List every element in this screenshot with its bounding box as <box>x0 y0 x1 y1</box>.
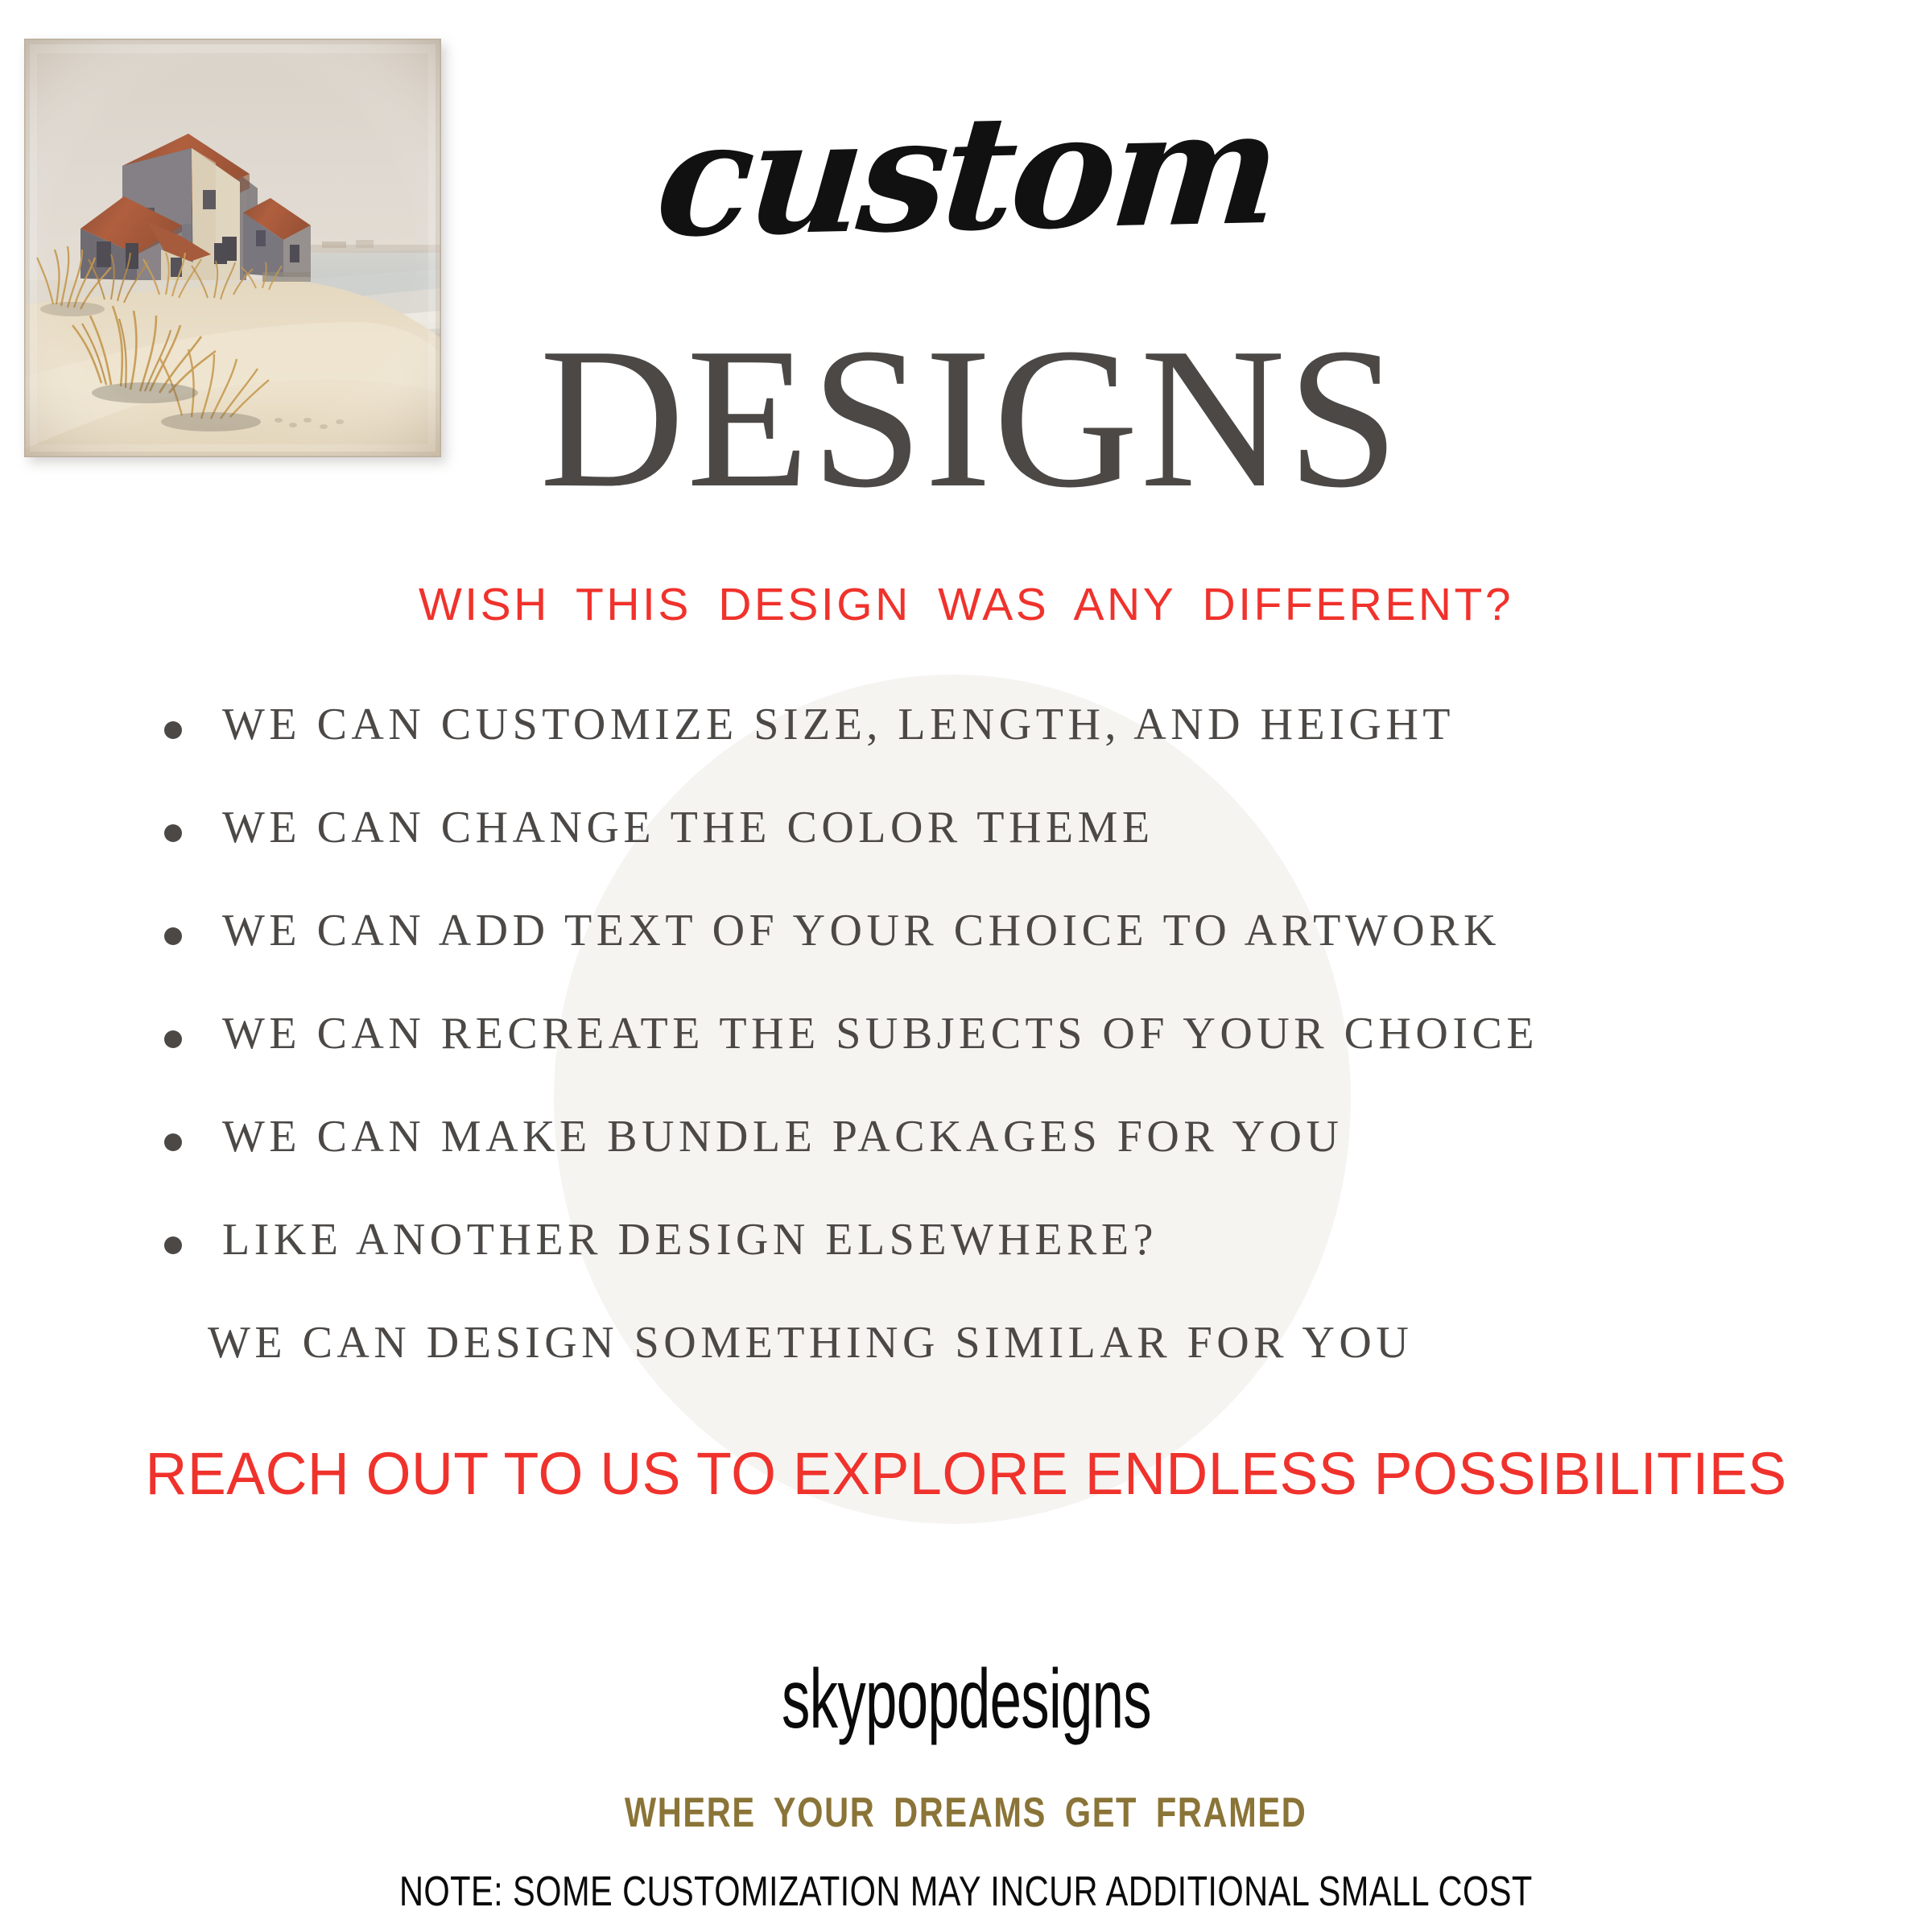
artwork-thumbnail <box>24 39 441 457</box>
bullet-dot-icon <box>164 824 182 842</box>
list-item: WE CAN CUSTOMIZE SIZE, LENGTH, AND HEIGH… <box>0 702 1932 805</box>
bullet-dot-icon <box>164 1133 182 1151</box>
brand-tagline-text: WHERE YOUR DREAMS GET FRAMED <box>625 1789 1307 1837</box>
list-item-continuation-label: WE CAN DESIGN SOMETHING SIMILAR FOR YOU <box>208 1318 1413 1368</box>
page-title-text: DESIGNS <box>539 318 1401 519</box>
call-to-action: REACH OUT TO US TO EXPLORE ENDLESS POSSI… <box>0 1439 1932 1508</box>
call-to-action-text: REACH OUT TO US TO EXPLORE ENDLESS POSSI… <box>145 1439 1786 1508</box>
bullet-dot-icon <box>164 927 182 945</box>
list-item-label: WE CAN RECREATE THE SUBJECTS OF YOUR CHO… <box>222 1011 1538 1056</box>
list-item: LIKE ANOTHER DESIGN ELSEWHERE? <box>0 1217 1932 1320</box>
list-item: WE CAN RECREATE THE SUBJECTS OF YOUR CHO… <box>0 1011 1932 1114</box>
list-item-label: WE CAN ADD TEXT OF YOUR CHOICE TO ARTWOR… <box>222 908 1501 953</box>
list-item-label: WE CAN CHANGE THE COLOR THEME <box>222 805 1154 850</box>
list-item-continuation: WE CAN DESIGN SOMETHING SIMILAR FOR YOU <box>0 1320 1932 1409</box>
bullet-dot-icon <box>164 721 182 739</box>
feature-list: WE CAN CUSTOMIZE SIZE, LENGTH, AND HEIGH… <box>0 702 1932 1409</box>
custom-designs-poster: custom DESIGNS WISH THIS DESIGN WAS ANY … <box>0 0 1932 1932</box>
list-item: WE CAN ADD TEXT OF YOUR CHOICE TO ARTWOR… <box>0 908 1932 1011</box>
subtitle-text: WISH THIS DESIGN WAS ANY DIFFERENT? <box>419 579 1513 630</box>
subtitle: WISH THIS DESIGN WAS ANY DIFFERENT? <box>0 578 1932 631</box>
list-item: WE CAN CHANGE THE COLOR THEME <box>0 805 1932 908</box>
bullet-dot-icon <box>164 1236 182 1254</box>
brand-logo: skypopdesigns <box>0 1652 1932 1748</box>
brand-logo-text: skypopdesigns <box>781 1652 1150 1748</box>
list-item-label: WE CAN CUSTOMIZE SIZE, LENGTH, AND HEIGH… <box>222 702 1455 747</box>
bullet-dot-icon <box>164 1030 182 1048</box>
list-item-label: WE CAN MAKE BUNDLE PACKAGES FOR YOU <box>222 1114 1343 1159</box>
footnote: NOTE: SOME CUSTOMIZATION MAY INCUR ADDIT… <box>0 1868 1932 1916</box>
list-item: WE CAN MAKE BUNDLE PACKAGES FOR YOU <box>0 1114 1932 1217</box>
list-item-label: LIKE ANOTHER DESIGN ELSEWHERE? <box>222 1217 1158 1262</box>
script-title-text: custom <box>651 89 1282 259</box>
brand-tagline: WHERE YOUR DREAMS GET FRAMED <box>0 1789 1932 1837</box>
coastal-cottages-painting-icon <box>24 39 441 457</box>
footnote-text: NOTE: SOME CUSTOMIZATION MAY INCUR ADDIT… <box>399 1868 1533 1916</box>
